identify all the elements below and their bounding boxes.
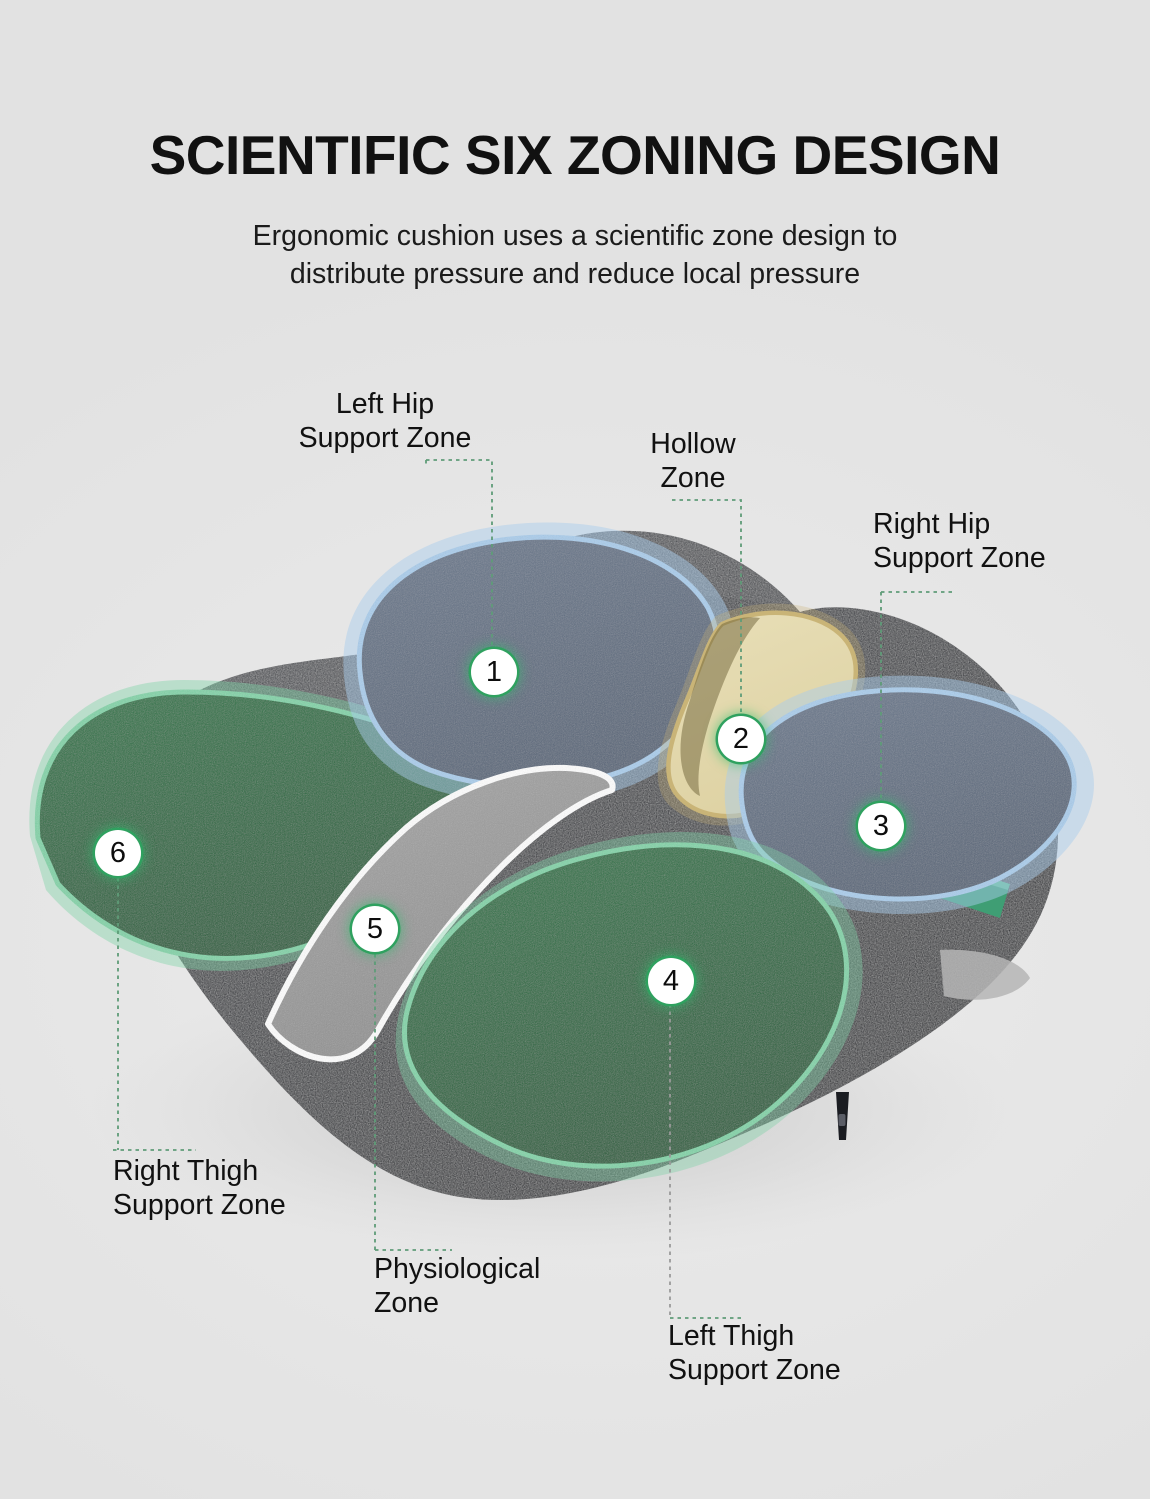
diagram-stage: Left Hip Support Zone Hollow Zone Right … (0, 0, 1150, 1499)
callout-left-thigh-support-zone: Left Thigh Support Zone (668, 1320, 908, 1387)
zone-badge-1[interactable]: 1 (471, 649, 517, 695)
zone-badge-5[interactable]: 5 (352, 906, 398, 952)
callout-right-thigh-support-zone: Right Thigh Support Zone (113, 1155, 353, 1222)
zone-badge-3[interactable]: 3 (858, 803, 904, 849)
callout-left-hip-support-zone: Left Hip Support Zone (265, 388, 505, 455)
zone-badge-6[interactable]: 6 (95, 830, 141, 876)
callout-right-hip-support-zone: Right Hip Support Zone (873, 508, 1108, 575)
callout-physiological-zone: Physiological Zone (374, 1253, 609, 1320)
zone-badge-2[interactable]: 2 (718, 716, 764, 762)
callout-hollow-zone: Hollow Zone (608, 428, 778, 495)
zone-badge-4[interactable]: 4 (648, 958, 694, 1004)
infographic-page: SCIENTIFIC SIX ZONING DESIGN Ergonomic c… (0, 0, 1150, 1499)
label-patch (940, 950, 1030, 1000)
